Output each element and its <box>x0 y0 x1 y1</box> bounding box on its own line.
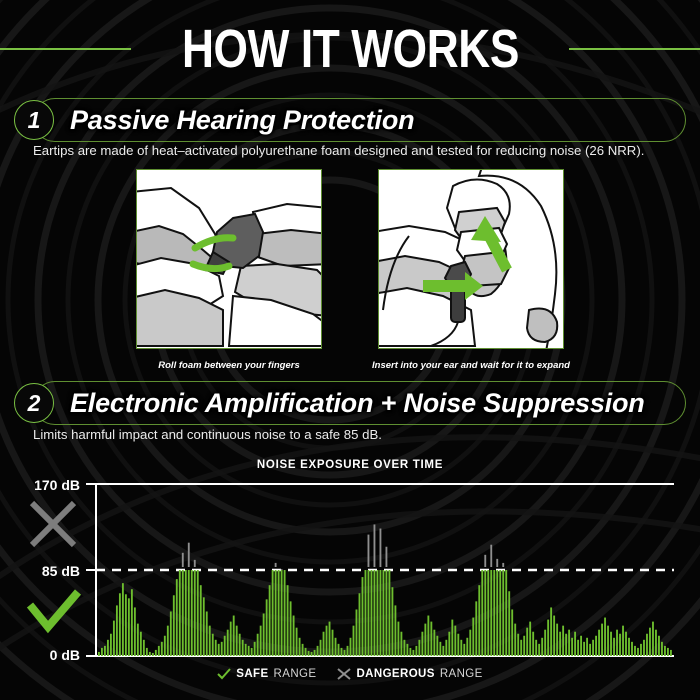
bar-safe <box>119 593 121 656</box>
bar-safe <box>598 630 600 656</box>
bar-safe <box>523 636 525 656</box>
chart-legend: SAFE RANGE DANGEROUS RANGE <box>0 668 700 680</box>
bar-safe <box>359 593 361 656</box>
bar-safe <box>469 630 471 656</box>
bar-safe <box>637 648 639 656</box>
bar-safe <box>415 646 417 656</box>
bar-safe <box>592 640 594 656</box>
bar-safe <box>409 648 411 656</box>
bar-safe <box>188 570 190 656</box>
bar-safe <box>661 642 663 656</box>
noise-exposure-chart <box>0 0 700 700</box>
bar-safe <box>221 642 223 656</box>
bar-safe <box>499 570 501 656</box>
bar-safe <box>131 589 133 656</box>
bar-safe <box>134 607 136 656</box>
bar-safe <box>272 570 274 656</box>
bar-safe <box>478 585 480 656</box>
bar-safe <box>311 652 313 656</box>
bar-safe <box>314 650 316 656</box>
bar-safe <box>472 618 474 656</box>
bar-safe <box>371 570 373 656</box>
bar-safe <box>484 570 486 656</box>
legend-item-dangerous: DANGEROUS RANGE <box>337 668 482 680</box>
bar-safe <box>490 570 492 656</box>
bar-safe <box>356 609 358 656</box>
bar-safe <box>430 622 432 656</box>
bar-safe <box>197 570 199 656</box>
bar-safe <box>317 646 319 656</box>
bar-safe <box>511 609 513 656</box>
bar-safe <box>185 570 187 656</box>
bar-safe <box>628 638 630 656</box>
bar-safe <box>649 628 651 656</box>
bar-safe <box>436 636 438 656</box>
bar-safe <box>98 652 100 656</box>
bar-safe <box>341 648 343 656</box>
bar-safe <box>149 652 151 656</box>
bar-safe <box>406 644 408 656</box>
bar-safe <box>101 648 103 656</box>
bar-safe <box>565 634 567 656</box>
bar-dangerous <box>188 543 190 567</box>
bar-safe <box>463 644 465 656</box>
bar-safe <box>278 570 280 656</box>
bar-safe <box>583 642 585 656</box>
bar-safe <box>104 646 106 656</box>
bar-safe <box>442 646 444 656</box>
bar-safe <box>146 648 148 656</box>
bar-safe <box>275 570 277 656</box>
bar-safe <box>173 595 175 656</box>
bar-safe <box>158 646 160 656</box>
x-icon <box>337 668 351 680</box>
bar-safe <box>451 620 453 656</box>
bar-safe <box>559 632 561 656</box>
bar-safe <box>308 651 310 656</box>
legend-item-safe: SAFE RANGE <box>217 668 316 680</box>
bar-safe <box>338 644 340 656</box>
bar-safe <box>514 624 516 656</box>
bar-safe <box>610 632 612 656</box>
bar-safe <box>487 570 489 656</box>
bar-safe <box>652 622 654 656</box>
bar-safe <box>397 622 399 656</box>
bar-safe <box>293 616 295 656</box>
bar-safe <box>239 634 241 656</box>
check-icon-safe <box>30 592 78 627</box>
bar-safe <box>631 642 633 656</box>
bar-safe <box>388 570 390 656</box>
bar-dangerous <box>194 560 196 567</box>
bar-safe <box>658 636 660 656</box>
bar-safe <box>320 640 322 656</box>
bar-safe <box>362 577 364 656</box>
bar-safe <box>613 638 615 656</box>
bar-safe <box>562 626 564 656</box>
bar-safe <box>622 626 624 656</box>
bar-safe <box>194 570 196 656</box>
bar-safe <box>643 640 645 656</box>
bar-safe <box>344 650 346 656</box>
bar-safe <box>439 642 441 656</box>
bar-safe <box>155 650 157 656</box>
bar-safe <box>418 640 420 656</box>
bar-safe <box>568 630 570 656</box>
bar-safe <box>200 585 202 656</box>
bar-safe <box>245 644 247 656</box>
bar-safe <box>326 626 328 656</box>
bar-safe <box>493 570 495 656</box>
bar-safe <box>122 583 124 656</box>
bar-dangerous <box>490 545 492 567</box>
bar-safe <box>212 634 214 656</box>
bar-safe <box>400 632 402 656</box>
legend-dangerous-strong: DANGEROUS <box>356 668 434 680</box>
bar-safe <box>191 570 193 656</box>
bar-dangerous <box>374 524 376 567</box>
bar-safe <box>290 601 292 656</box>
legend-dangerous-light: RANGE <box>440 668 483 680</box>
bar-safe <box>475 601 477 656</box>
bar-dangerous <box>380 529 382 567</box>
bar-safe <box>128 598 130 656</box>
bar-safe <box>538 644 540 656</box>
bar-safe <box>640 644 642 656</box>
bar-safe <box>421 632 423 656</box>
bar-safe <box>377 570 379 656</box>
bar-safe <box>332 630 334 656</box>
bar-dangerous <box>386 547 388 567</box>
legend-safe-light: RANGE <box>274 668 317 680</box>
bar-safe <box>520 640 522 656</box>
bar-safe <box>433 630 435 656</box>
bar-safe <box>391 587 393 656</box>
bar-safe <box>284 570 286 656</box>
bar-safe <box>574 632 576 656</box>
bar-safe <box>553 616 555 656</box>
bar-safe <box>634 646 636 656</box>
bar-safe <box>604 618 606 656</box>
bar-safe <box>230 622 232 656</box>
check-icon <box>217 668 231 680</box>
bar-safe <box>595 636 597 656</box>
bar-safe <box>424 624 426 656</box>
bar-safe <box>550 607 552 656</box>
bar-safe <box>529 622 531 656</box>
bar-safe <box>353 626 355 656</box>
bar-safe <box>368 570 370 656</box>
bar-safe <box>233 616 235 656</box>
bar-safe <box>287 585 289 656</box>
bar-safe <box>182 570 184 656</box>
bar-safe <box>218 644 220 656</box>
bar-safe <box>254 642 256 656</box>
bar-safe <box>206 611 208 656</box>
bar-safe <box>619 634 621 656</box>
bar-safe <box>412 650 414 656</box>
bar-safe <box>448 632 450 656</box>
bar-safe <box>380 570 382 656</box>
bar-safe <box>541 638 543 656</box>
bar-safe <box>167 626 169 656</box>
bar-safe <box>544 630 546 656</box>
bar-safe <box>365 570 367 656</box>
bar-safe <box>616 630 618 656</box>
bar-safe <box>203 597 205 656</box>
bar-safe <box>664 646 666 656</box>
bar-safe <box>305 648 307 656</box>
bar-safe <box>116 605 118 656</box>
bar-dangerous <box>368 535 370 567</box>
bar-safe <box>571 638 573 656</box>
bar-safe <box>350 638 352 656</box>
bar-safe <box>394 605 396 656</box>
bar-safe <box>227 630 229 656</box>
bar-safe <box>586 638 588 656</box>
bar-safe <box>547 620 549 656</box>
bar-safe <box>655 630 657 656</box>
bar-safe <box>646 634 648 656</box>
bar-safe <box>329 622 331 656</box>
bar-safe <box>601 624 603 656</box>
bar-safe <box>263 614 265 656</box>
bar-safe <box>508 591 510 656</box>
bar-safe <box>454 626 456 656</box>
bar-dangerous <box>502 563 504 567</box>
bar-safe <box>466 638 468 656</box>
bar-safe <box>526 628 528 656</box>
x-icon-dangerous <box>32 503 74 545</box>
bar-safe <box>152 653 154 656</box>
bar-safe <box>535 640 537 656</box>
bar-dangerous <box>484 555 486 567</box>
bar-safe <box>143 640 145 656</box>
bar-safe <box>445 640 447 656</box>
bar-dangerous <box>182 553 184 567</box>
bar-safe <box>580 636 582 656</box>
bar-safe <box>607 626 609 656</box>
bar-safe <box>107 640 109 656</box>
bar-safe <box>299 638 301 656</box>
bar-safe <box>335 638 337 656</box>
bar-safe <box>209 626 211 656</box>
bar-safe <box>374 570 376 656</box>
bar-safe <box>170 611 172 656</box>
bar-safe <box>403 640 405 656</box>
bar-safe <box>589 644 591 656</box>
bar-safe <box>125 594 127 656</box>
bar-safe <box>481 570 483 656</box>
bar-safe <box>517 634 519 656</box>
bar-safe <box>347 646 349 656</box>
bar-safe <box>502 570 504 656</box>
bar-safe <box>496 570 498 656</box>
chart-bars <box>98 524 672 656</box>
bar-safe <box>269 585 271 656</box>
bar-safe <box>323 632 325 656</box>
bar-safe <box>281 570 283 656</box>
bar-safe <box>266 599 268 656</box>
bar-safe <box>302 644 304 656</box>
bar-dangerous <box>275 563 277 567</box>
bar-safe <box>110 634 112 656</box>
bar-safe <box>179 570 181 656</box>
bar-safe <box>236 626 238 656</box>
bar-safe <box>176 579 178 656</box>
bar-safe <box>257 634 259 656</box>
bar-safe <box>296 628 298 656</box>
bar-safe <box>137 624 139 656</box>
bar-safe <box>577 640 579 656</box>
bar-safe <box>505 570 507 656</box>
bar-safe <box>625 632 627 656</box>
bar-safe <box>242 640 244 656</box>
bar-dangerous <box>496 559 498 567</box>
bar-safe <box>164 636 166 656</box>
bar-safe <box>532 632 534 656</box>
bar-safe <box>386 570 388 656</box>
bar-safe <box>457 634 459 656</box>
bar-safe <box>224 636 226 656</box>
legend-safe-strong: SAFE <box>236 668 268 680</box>
bar-safe <box>460 640 462 656</box>
bar-safe <box>667 648 669 656</box>
bar-safe <box>113 621 115 656</box>
bar-safe <box>383 570 385 656</box>
infographic-root: HOW IT WORKS 1 Passive Hearing Protectio… <box>0 0 700 700</box>
bar-safe <box>556 624 558 656</box>
bar-safe <box>248 646 250 656</box>
bar-safe <box>427 616 429 656</box>
bar-safe <box>140 632 142 656</box>
bar-safe <box>260 626 262 656</box>
bar-safe <box>251 648 253 656</box>
bar-dangerous <box>281 569 283 570</box>
bar-safe <box>161 642 163 656</box>
bar-safe <box>215 640 217 656</box>
bar-safe <box>670 650 672 656</box>
